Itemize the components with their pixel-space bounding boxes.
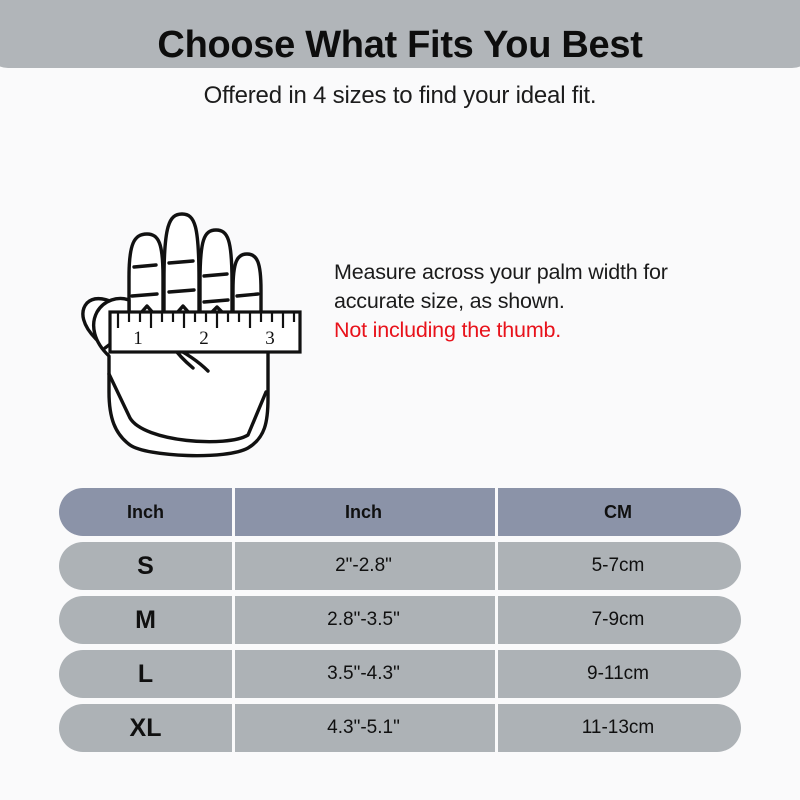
hand-with-ruler-icon: 1 2 3 — [52, 130, 332, 460]
table-row: M 2.8"-3.5" 7-9cm — [59, 596, 741, 644]
cell-cm: 11-13cm — [495, 704, 741, 752]
header-cell-size: Inch — [59, 488, 232, 536]
cell-inch: 3.5"-4.3" — [232, 650, 495, 698]
page-title: Choose What Fits You Best — [157, 26, 642, 64]
cell-inch: 2"-2.8" — [232, 542, 495, 590]
cell-cm: 7-9cm — [495, 596, 741, 644]
cell-size: M — [59, 596, 232, 644]
header-banner: Choose What Fits You Best — [0, 0, 800, 68]
instruction-line-2: accurate size, as shown. — [334, 287, 754, 316]
cell-size: L — [59, 650, 232, 698]
cell-inch: 4.3"-5.1" — [232, 704, 495, 752]
ruler-mark-2: 2 — [199, 328, 209, 349]
measurement-guide-section: 1 2 3 Measure across your palm width for… — [0, 130, 800, 470]
table-row: S 2"-2.8" 5-7cm — [59, 542, 741, 590]
page-subtitle: Offered in 4 sizes to find your ideal fi… — [0, 82, 800, 110]
ruler-mark-1: 1 — [133, 328, 143, 349]
header-cell-inch: Inch — [232, 488, 495, 536]
cell-size: XL — [59, 704, 232, 752]
cell-size: S — [59, 542, 232, 590]
instruction-text-block: Measure across your palm width for accur… — [334, 258, 754, 345]
size-table: Inch Inch CM S 2"-2.8" 5-7cm M 2.8"-3.5"… — [59, 488, 741, 758]
ruler-mark-3: 3 — [265, 328, 275, 349]
instruction-warning: Not including the thumb. — [334, 316, 754, 345]
header-cell-cm: CM — [495, 488, 741, 536]
cell-inch: 2.8"-3.5" — [232, 596, 495, 644]
cell-cm: 5-7cm — [495, 542, 741, 590]
size-chart-page: Choose What Fits You Best Offered in 4 s… — [0, 0, 800, 800]
instruction-line-1: Measure across your palm width for — [334, 258, 754, 287]
table-row: L 3.5"-4.3" 9-11cm — [59, 650, 741, 698]
table-header-row: Inch Inch CM — [59, 488, 741, 536]
cell-cm: 9-11cm — [495, 650, 741, 698]
table-row: XL 4.3"-5.1" 11-13cm — [59, 704, 741, 752]
